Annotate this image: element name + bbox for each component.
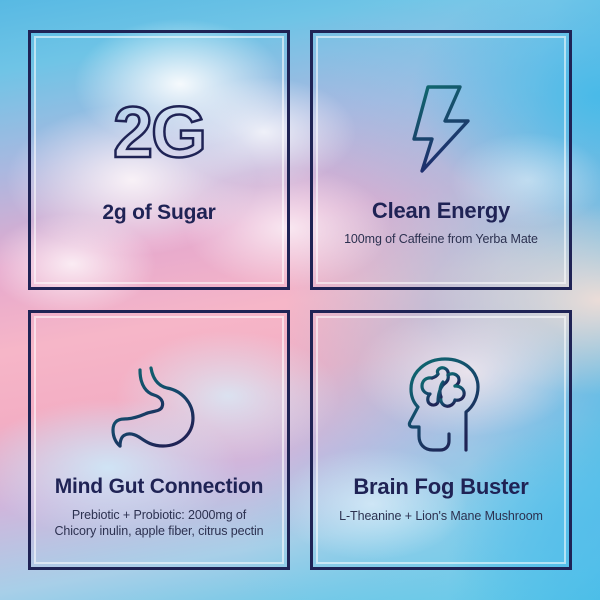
- stomach-icon: [31, 361, 287, 453]
- two-grams-outline-icon: 2G: [31, 95, 287, 171]
- infographic-canvas: 2G 2g of Sugar Clean Energy 100mg of Caf…: [0, 0, 600, 600]
- card-text-block: Brain Fog Buster L-Theanine + Lion's Man…: [313, 475, 569, 524]
- head-brain-icon: [313, 355, 569, 455]
- feature-card-sugar[interactable]: 2G 2g of Sugar: [28, 30, 290, 290]
- feature-card-clean-energy[interactable]: Clean Energy 100mg of Caffeine from Yerb…: [310, 30, 572, 290]
- feature-card-mind-gut[interactable]: Mind Gut Connection Prebiotic + Probioti…: [28, 310, 290, 570]
- card-title: Mind Gut Connection: [37, 475, 281, 498]
- card-title: Brain Fog Buster: [319, 475, 563, 499]
- card-text-block: Clean Energy 100mg of Caffeine from Yerb…: [313, 199, 569, 247]
- card-subtitle-line-1: Prebiotic + Probiotic: 2000mg of: [37, 507, 281, 523]
- feature-card-brain-fog[interactable]: Brain Fog Buster L-Theanine + Lion's Man…: [310, 310, 572, 570]
- card-text-block: 2g of Sugar: [31, 201, 287, 224]
- card-text-block: Mind Gut Connection Prebiotic + Probioti…: [31, 475, 287, 539]
- card-subtitle: L-Theanine + Lion's Mane Mushroom: [319, 508, 563, 524]
- card-subtitle-line-2: Chicory inulin, apple fiber, citrus pect…: [37, 523, 281, 539]
- card-subtitle: Prebiotic + Probiotic: 2000mg of Chicory…: [37, 507, 281, 539]
- two-grams-label: 2G: [113, 97, 205, 169]
- card-title: 2g of Sugar: [37, 201, 281, 224]
- lightning-bolt-icon: [313, 83, 569, 175]
- card-subtitle: 100mg of Caffeine from Yerba Mate: [319, 231, 563, 247]
- card-title: Clean Energy: [319, 199, 563, 223]
- feature-card-grid: 2G 2g of Sugar Clean Energy 100mg of Caf…: [28, 30, 572, 570]
